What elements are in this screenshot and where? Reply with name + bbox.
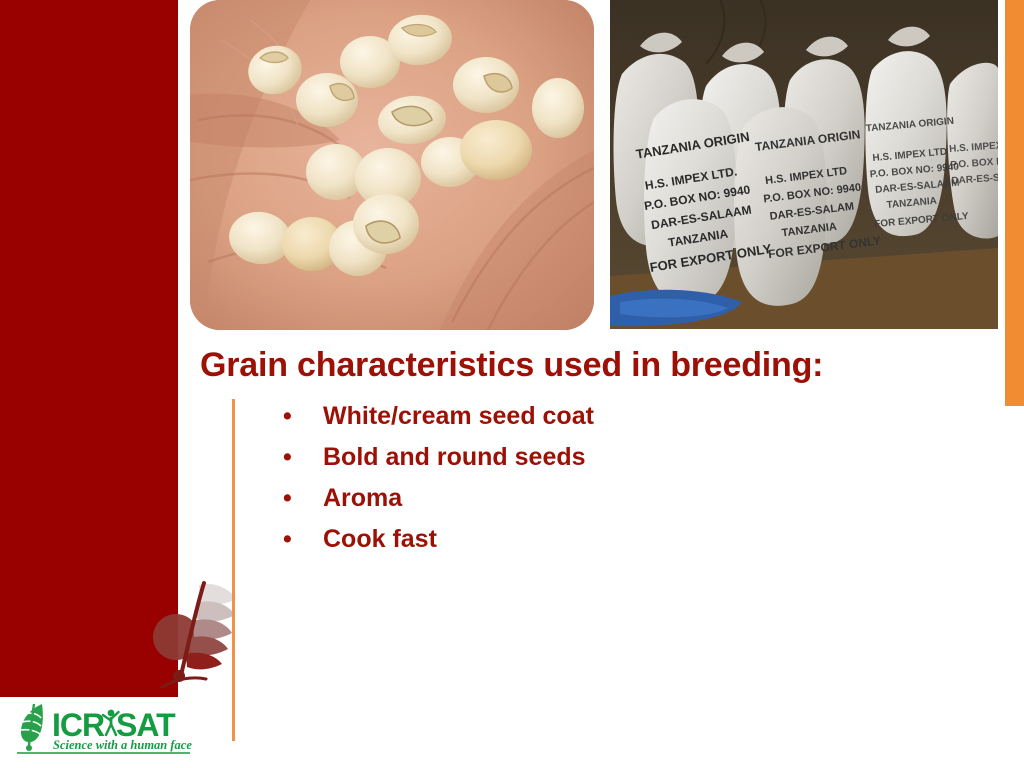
icrisat-logo: ICR SAT Science with a human face — [12, 702, 192, 754]
leaf-icon — [21, 704, 43, 751]
slide-canvas: TANZANIA ORIGIN H.S. IMPEX LTD. P.O. BOX… — [0, 0, 1024, 768]
bullet-list: • White/cream seed coat • Bold and round… — [278, 396, 918, 560]
feather-watermark-icon — [152, 575, 244, 697]
bullet-marker-icon: • — [283, 437, 292, 477]
bullet-marker-icon: • — [283, 478, 292, 518]
page-title: Grain characteristics used in breeding: — [200, 348, 980, 384]
list-item-label: White/cream seed coat — [323, 402, 594, 430]
list-item: • Aroma — [278, 478, 918, 518]
right-orange-band — [1005, 0, 1024, 406]
bullet-marker-icon: • — [283, 519, 292, 559]
list-item-label: Aroma — [323, 484, 402, 512]
content-vertical-rule — [232, 399, 235, 741]
photo-export-sacks: TANZANIA ORIGIN H.S. IMPEX LTD. P.O. BOX… — [610, 0, 998, 329]
list-item-label: Bold and round seeds — [323, 443, 586, 471]
photo-seeds-in-hand — [190, 0, 594, 330]
bullet-marker-icon: • — [283, 396, 292, 436]
list-item: • Bold and round seeds — [278, 437, 918, 477]
list-item-label: Cook fast — [323, 525, 437, 553]
logo-tagline: Science with a human face — [53, 738, 192, 752]
list-item: • Cook fast — [278, 519, 918, 559]
list-item: • White/cream seed coat — [278, 396, 918, 436]
